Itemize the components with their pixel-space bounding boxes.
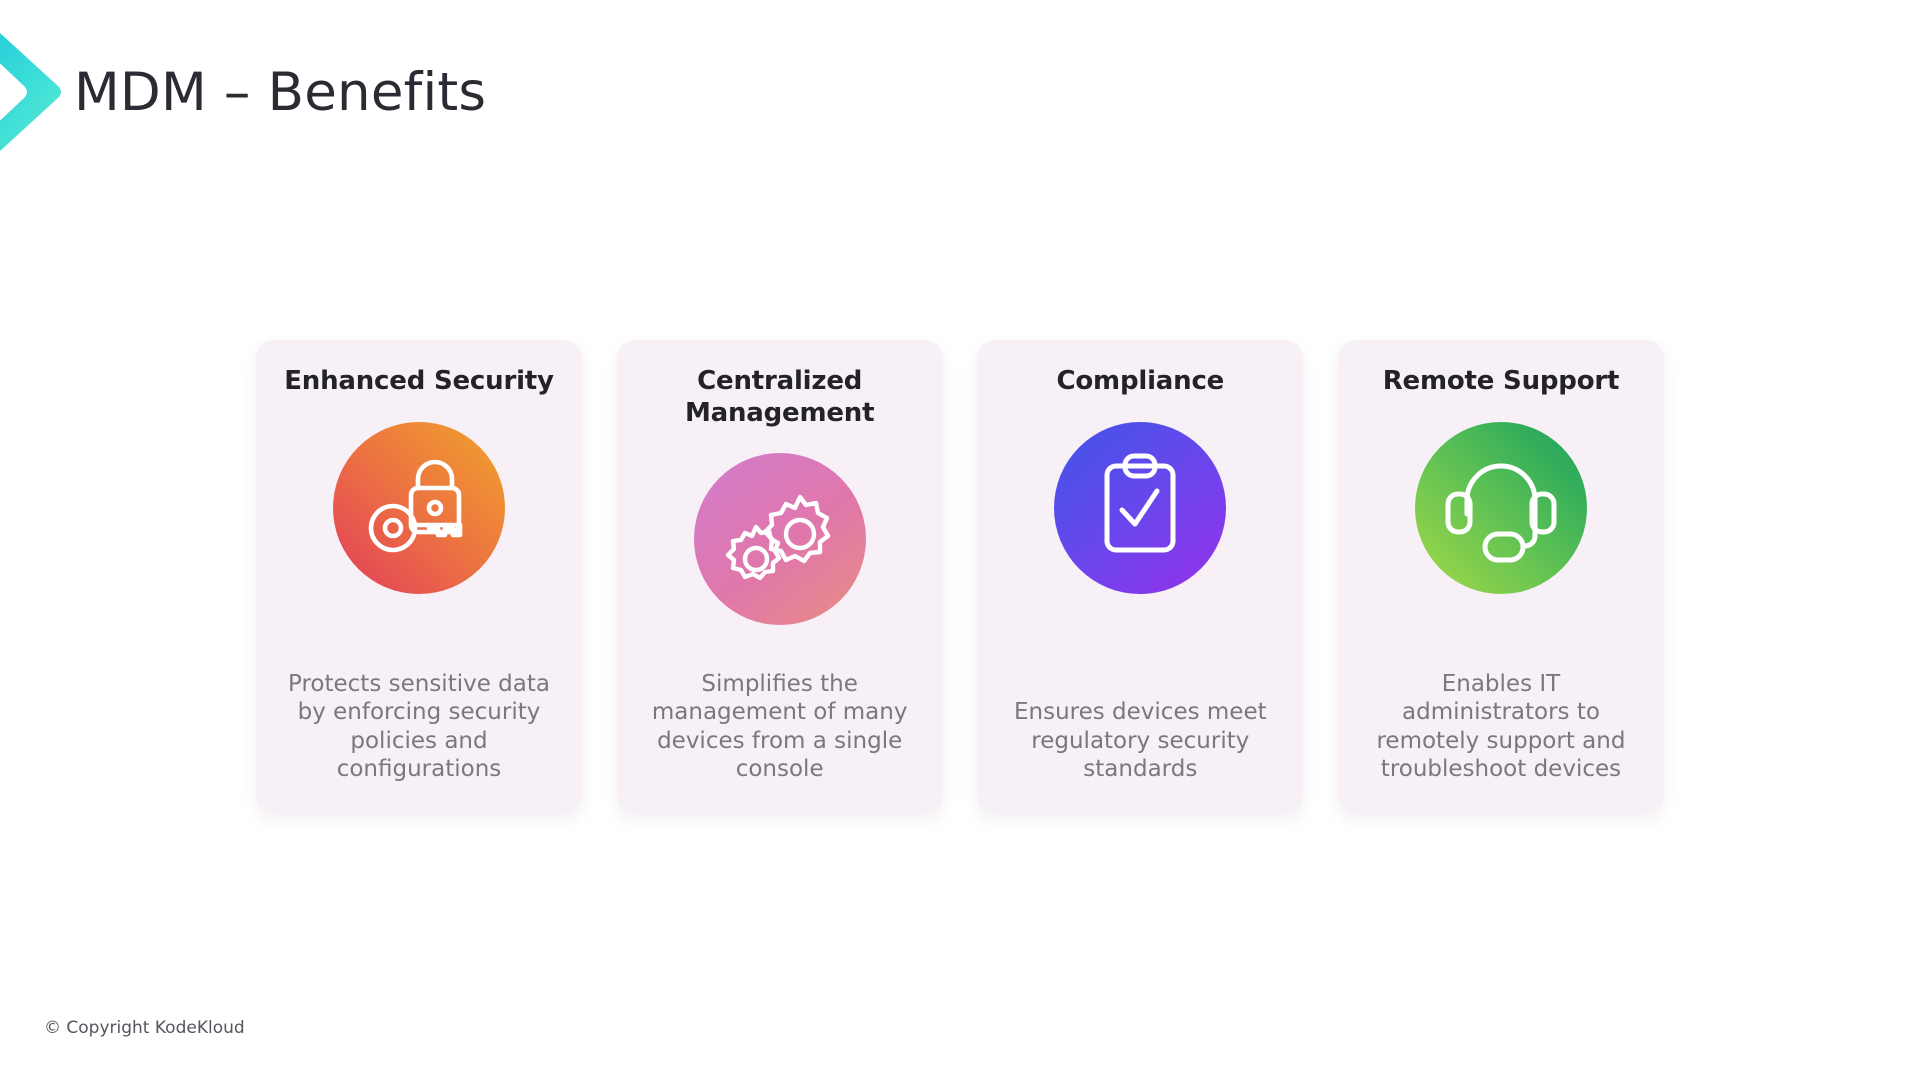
- card-title: Centralized Management: [635, 366, 925, 429]
- benefit-card-compliance: Compliance Ensures devices m: [977, 340, 1303, 814]
- clipboard-check-icon: [1054, 422, 1226, 594]
- chevron-logo-icon: [0, 18, 64, 166]
- card-description: Enables IT administrators to remotely su…: [1356, 670, 1646, 784]
- benefit-card-centralized-management: Centralized Management: [617, 340, 943, 814]
- card-description: Simplifies the management of many device…: [635, 670, 925, 784]
- headset-icon: [1415, 422, 1587, 594]
- gears-icon: [694, 453, 866, 625]
- card-description: Protects sensitive data by enforcing sec…: [274, 670, 564, 784]
- card-title: Compliance: [1057, 366, 1225, 398]
- card-title: Remote Support: [1383, 366, 1620, 398]
- copyright-footer: © Copyright KodeKloud: [44, 1018, 245, 1038]
- benefit-card-enhanced-security: Enhanced Security: [256, 340, 582, 814]
- card-title: Enhanced Security: [284, 366, 554, 398]
- benefit-card-remote-support: Remote Support: [1338, 340, 1664, 814]
- lock-key-icon: [333, 422, 505, 594]
- card-description: Ensures devices meet regulatory security…: [995, 698, 1285, 784]
- benefits-card-list: Enhanced Security: [256, 336, 1664, 814]
- page-title: MDM – Benefits: [74, 62, 486, 123]
